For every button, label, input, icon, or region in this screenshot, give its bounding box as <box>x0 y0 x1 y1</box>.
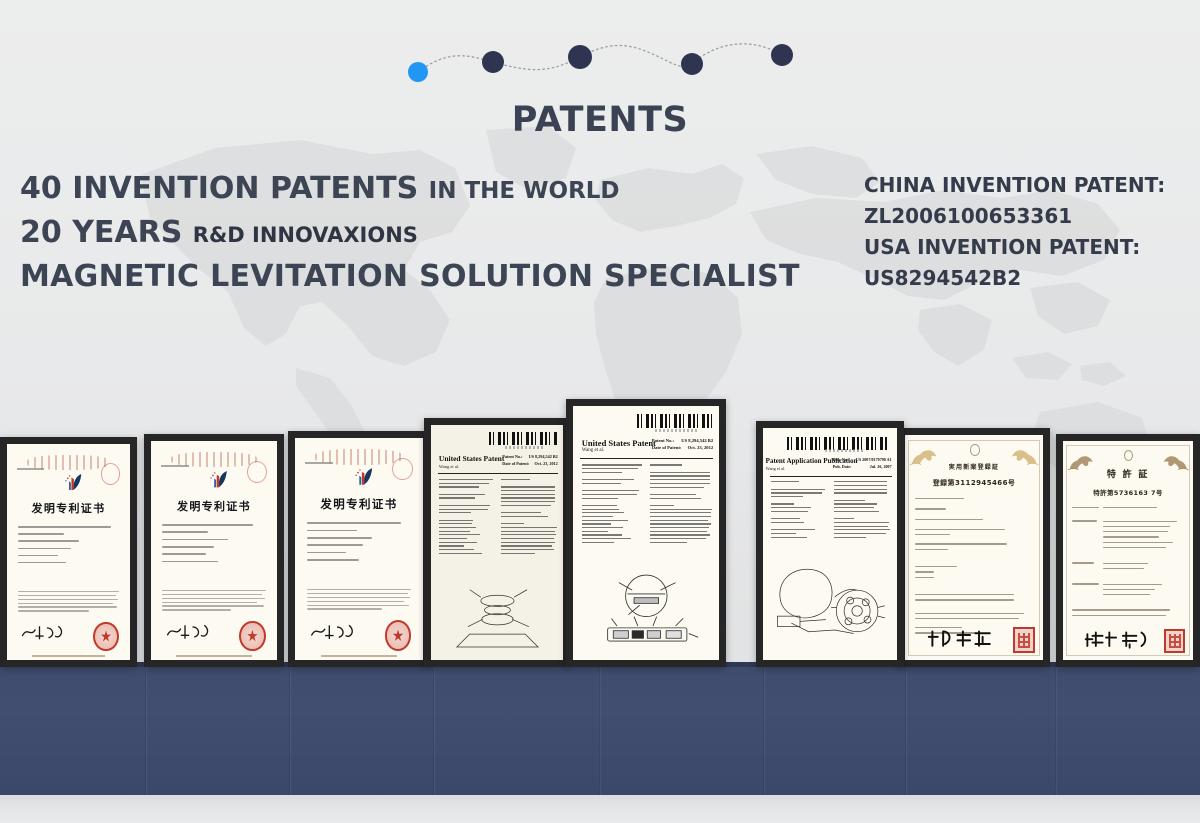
meta-value: US 2007/0170790 A1 <box>856 457 892 462</box>
us-patent-left-column <box>439 479 496 556</box>
cert-paragraph <box>162 590 265 613</box>
dot-4 <box>681 53 703 75</box>
meta-label: Patent No.: <box>502 454 522 459</box>
meta-label: Date of Patent: <box>652 445 682 450</box>
patent-numbers-block: CHINA INVENTION PATENT: ZL2006100653361 … <box>864 170 1194 294</box>
dot-5 <box>771 44 793 66</box>
meta-value: Oct. 23, 2012 <box>688 445 714 450</box>
us-patent-left-column <box>582 464 645 545</box>
certificate-seal-7 <box>1013 627 1035 653</box>
us-patent-document-5: United States Patent Wang et al. Patent … <box>573 406 719 660</box>
certificate-footer-rule <box>32 655 106 657</box>
certificate-frame-7[interactable]: 実用新案登録証 登録第3112945466号 <box>898 428 1050 667</box>
patent-figure-5 <box>585 569 708 653</box>
us-patent-right-column <box>650 464 713 545</box>
meta-value: Jul. 26, 2007 <box>870 464 892 469</box>
meta-label: Pub. Date: <box>833 464 852 469</box>
patents-banner: PATENTS 40 INVENTION PATENTS IN THE WORL… <box>0 0 1200 823</box>
cert-field-lines <box>162 524 265 568</box>
headline-line-1-strong: 40 INVENTION PATENTS <box>20 171 418 206</box>
certificate-signature-2 <box>164 618 214 644</box>
pedestal-seam <box>290 662 291 795</box>
china-patent-value: ZL2006100653361 <box>864 201 1194 232</box>
usa-patent-value: US8294542B2 <box>864 263 1194 294</box>
us-patent-application-publication-6: Patent Application Publication Wang et a… <box>763 428 897 660</box>
certificate-title-3: 发明专利证书 <box>295 496 423 512</box>
us-publication-subtitle-6: Wang et al. <box>766 466 820 471</box>
japan-registration-certificate-7: 実用新案登録証 登録第3112945466号 <box>905 435 1043 660</box>
barcode-icon <box>637 414 713 428</box>
certificate-signature-8 <box>1084 625 1152 653</box>
certificate-frame-8[interactable]: 特 許 証 特許第5736163 7号 <box>1056 434 1200 667</box>
certificate-body-7 <box>915 498 1034 638</box>
usa-patent-label: USA INVENTION PATENT: <box>864 232 1194 263</box>
headline-line-2-small: R&D INNOVAXIONS <box>193 223 418 247</box>
publication-right-column <box>834 481 892 540</box>
cert-field-lines <box>307 522 412 566</box>
header-rule <box>580 458 713 459</box>
certificate-title-2: 发明专利证书 <box>151 498 277 514</box>
dot-2 <box>482 51 504 73</box>
us-patent-meta-5: Patent No.: US 8,294,542 B2 Date of Pate… <box>652 438 713 452</box>
us-publication-meta-6: Pub. No.: US 2007/0170790 A1 Pub. Date: … <box>833 457 892 471</box>
headline-line-3: MAGNETIC LEVITATION SOLUTION SPECIALIST <box>20 256 820 298</box>
barcode-caption <box>505 446 545 449</box>
cert-paragraph <box>307 589 412 612</box>
us-publication-title-6: Patent Application Publication <box>766 457 828 465</box>
headline-line-1-small: IN THE WORLD <box>429 178 620 204</box>
dot-1 <box>408 62 428 82</box>
us-patent-title-4: United States Patent <box>439 454 500 463</box>
certificate-frame-1[interactable]: 发明专利证书 <box>0 437 137 667</box>
meta-label: Date of Patent: <box>502 461 529 466</box>
certificate-body-8 <box>1072 507 1184 620</box>
barcode-caption <box>655 429 699 433</box>
cnipa-logo-icon <box>206 465 231 493</box>
certificate-footer-rule <box>321 655 398 657</box>
certificate-signature-3 <box>308 618 359 645</box>
headline-line-2-strong: 20 YEARS <box>20 215 182 250</box>
certificate-signature-1 <box>19 619 68 645</box>
certificate-frame-4[interactable]: United States Patent Wang et al. Patent … <box>424 418 570 667</box>
headline-line-1: 40 INVENTION PATENTS IN THE WORLD <box>20 168 820 212</box>
meta-value: US 8,294,542 B2 <box>681 438 713 443</box>
certificate-seal-1 <box>93 622 119 652</box>
barcode-caption <box>825 449 865 452</box>
cnipa-logo-icon <box>61 468 86 496</box>
certificate-title-8: 特 許 証 <box>1063 467 1193 480</box>
china-patent-label: CHINA INVENTION PATENT: <box>864 170 1194 201</box>
pedestal-seam <box>434 662 435 795</box>
page-title: PATENTS <box>0 100 1200 140</box>
certificate-signature-7 <box>927 624 999 653</box>
patent-figure-4 <box>442 575 553 653</box>
publication-left-column <box>771 481 829 540</box>
certificate-seal-2 <box>239 621 265 651</box>
headline-block: 40 INVENTION PATENTS IN THE WORLD 20 YEA… <box>20 168 820 298</box>
us-patent-meta-4: Patent No.: US 8,294,542 B2 Date of Pate… <box>502 454 557 468</box>
certificate-footer-rule <box>176 655 252 657</box>
pedestal-seam <box>1056 662 1057 795</box>
pedestal-seam <box>906 662 907 795</box>
us-patent-document-4: United States Patent Wang et al. Patent … <box>431 425 563 660</box>
patent-figure-6 <box>774 553 887 655</box>
us-patent-title-5: United States Patent <box>582 438 649 448</box>
display-pedestal <box>0 662 1200 795</box>
header-rule <box>438 473 558 474</box>
certificate-number-7: 登録第3112945466号 <box>905 478 1043 488</box>
pedestal-seam <box>146 662 147 795</box>
government-crest-icon <box>1124 450 1133 461</box>
floor-strip <box>0 795 1200 823</box>
certificate-frame-5[interactable]: United States Patent Wang et al. Patent … <box>566 399 726 667</box>
china-certificate-3: 发明专利证书 <box>295 438 423 660</box>
meta-label: Patent No.: <box>652 438 674 443</box>
meta-label: Pub. No.: <box>833 457 850 462</box>
certificate-frame-3[interactable]: 发明专利证书 <box>288 431 430 667</box>
china-certificate-1: 发明专利证书 <box>7 444 130 660</box>
certificate-frame-6[interactable]: Patent Application Publication Wang et a… <box>756 421 904 667</box>
pedestal-seam <box>600 662 601 795</box>
us-patent-subtitle-4: Wang et al. <box>439 464 492 469</box>
headline-line-2: 20 YEARS R&D INNOVAXIONS <box>20 212 820 256</box>
certificate-title-7: 実用新案登録証 <box>905 462 1043 471</box>
dot-3 <box>568 45 592 69</box>
cert-field-lines <box>18 526 119 569</box>
us-patent-subtitle-5: Wang et al. <box>582 448 640 453</box>
certificate-frame-2[interactable]: 发明专利证书 <box>144 434 284 667</box>
cert-paragraph <box>18 591 119 614</box>
certificate-seal-3 <box>385 620 412 651</box>
japan-patent-certificate-8: 特 許 証 特許第5736163 7号 <box>1063 441 1193 660</box>
certificate-number-8: 特許第5736163 7号 <box>1063 487 1193 497</box>
meta-value: US 8,294,542 B2 <box>529 454 558 459</box>
us-patent-right-column <box>501 479 558 556</box>
pedestal-seam <box>764 662 765 795</box>
government-crest-icon <box>970 444 980 456</box>
china-certificate-2: 发明专利证书 <box>151 441 277 660</box>
barcode-icon <box>489 432 558 445</box>
meta-value: Oct. 23, 2012 <box>534 461 557 466</box>
header-rule <box>770 476 892 477</box>
certificate-title-1: 发明专利证书 <box>7 500 130 516</box>
cnipa-logo-icon <box>351 462 377 491</box>
certificate-seal-8 <box>1164 629 1185 654</box>
decorative-squiggle <box>395 38 815 93</box>
